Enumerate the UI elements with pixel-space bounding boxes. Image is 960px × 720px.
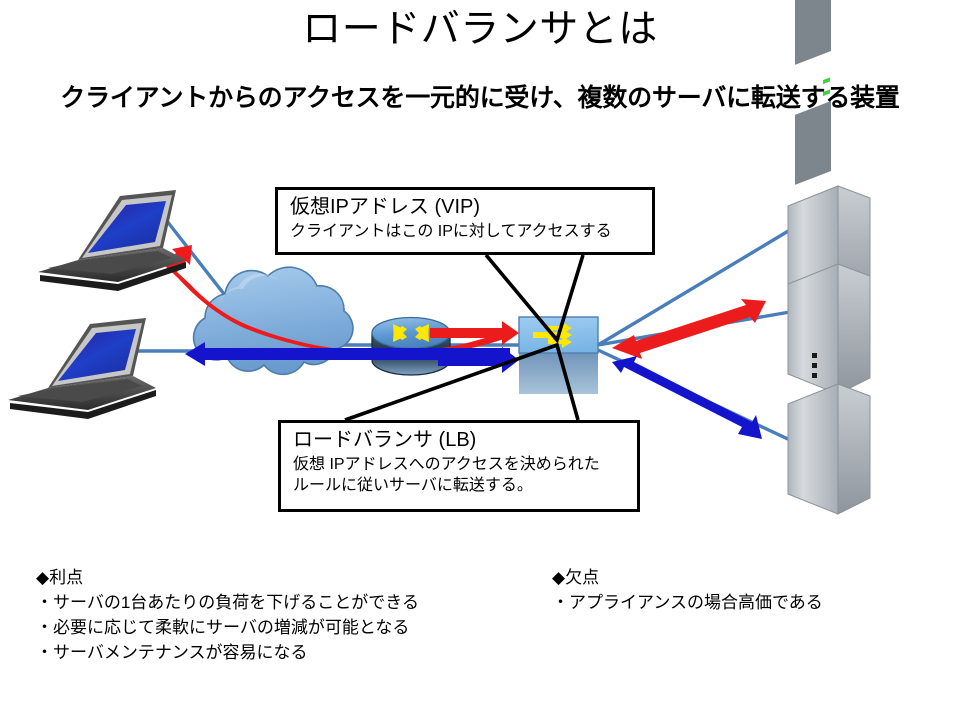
callout-vip-body: クライアントはこの IPに対してアクセスする bbox=[290, 221, 642, 242]
callout-lb-heading: ロードバランサ (LB) bbox=[293, 427, 627, 454]
callout-vip[interactable]: 仮想IPアドレス (VIP) クライアントはこの IPに対してアクセスする bbox=[275, 187, 655, 255]
drawbacks-item-1: ・アプライアンスの場合高価である bbox=[552, 590, 823, 615]
callout-vip-heading: 仮想IPアドレス (VIP) bbox=[290, 194, 642, 221]
drawbacks-block: ◆欠点 ・アプライアンスの場合高価である bbox=[552, 565, 823, 615]
callout-tail-vip bbox=[486, 255, 583, 340]
callout-lb-body-line-2: ルールに従いサーバに転送する。 bbox=[293, 475, 627, 496]
advantages-item-1: ・サーバの1台あたりの負荷を下げることができる bbox=[36, 590, 419, 615]
diamond-marker-icon: ◆ bbox=[552, 568, 565, 587]
drawbacks-heading: ◆欠点 bbox=[552, 565, 823, 590]
advantages-block: ◆利点 ・サーバの1台あたりの負荷を下げることができる ・必要に応じて柔軟にサー… bbox=[36, 565, 419, 665]
advantages-heading: ◆利点 bbox=[36, 565, 419, 590]
drawbacks-heading-label: 欠点 bbox=[565, 568, 599, 587]
slide-root: ロードバランサとは クライアントからのアクセスを一元的に受け、複数のサーバに転送… bbox=[0, 0, 960, 720]
advantages-item-3: ・サーバメンテナンスが容易になる bbox=[36, 640, 419, 665]
callout-tail-lb bbox=[345, 345, 578, 420]
callout-lb-body-line-1: 仮想 IPアドレスへのアクセスを決められた bbox=[293, 454, 627, 475]
diamond-marker-icon: ◆ bbox=[36, 568, 49, 587]
callout-lb[interactable]: ロードバランサ (LB) 仮想 IPアドレスへのアクセスを決められた ルールに従… bbox=[278, 420, 640, 512]
advantages-heading-label: 利点 bbox=[49, 568, 83, 587]
advantages-item-2: ・必要に応じて柔軟にサーバの増減が可能となる bbox=[36, 615, 419, 640]
